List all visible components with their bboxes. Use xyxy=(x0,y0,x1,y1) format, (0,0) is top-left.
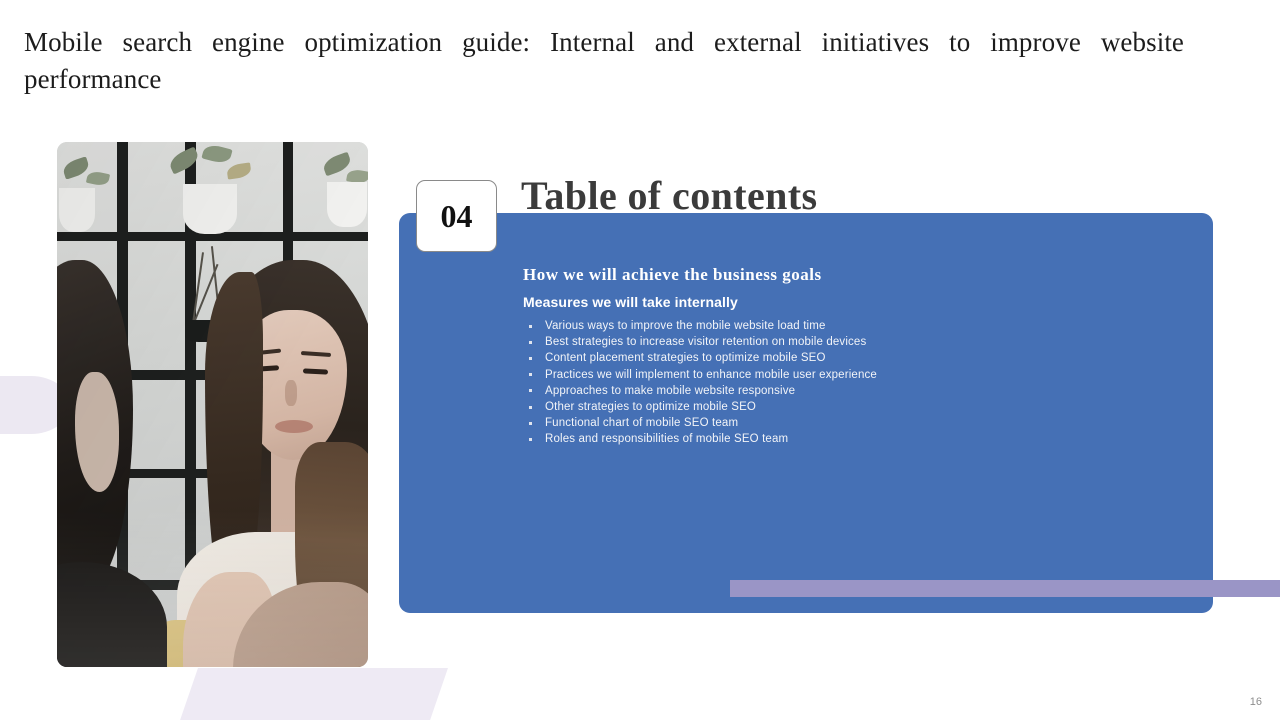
list-item[interactable]: Content placement strategies to optimize… xyxy=(523,350,1189,366)
accent-bar xyxy=(730,580,1280,597)
section-title: How we will achieve the business goals xyxy=(523,265,1189,285)
list-item[interactable]: Approaches to make mobile website respon… xyxy=(523,383,1189,399)
panel-content: How we will achieve the business goals M… xyxy=(523,265,1189,448)
photo-scene xyxy=(57,142,368,667)
decorative-lavender-bottom-shape xyxy=(180,668,448,720)
list-item[interactable]: Functional chart of mobile SEO team xyxy=(523,415,1189,431)
list-item[interactable]: Other strategies to optimize mobile SEO xyxy=(523,399,1189,415)
section-subtitle: Measures we will take internally xyxy=(523,294,1189,310)
table-of-contents-panel: How we will achieve the business goals M… xyxy=(399,213,1213,613)
table-of-contents-heading: Table of contents xyxy=(521,172,817,219)
section-number-label: 04 xyxy=(441,198,473,235)
list-item[interactable]: Roles and responsibilities of mobile SEO… xyxy=(523,431,1189,447)
section-number-badge: 04 xyxy=(416,180,497,252)
office-meeting-photo xyxy=(57,142,368,667)
page-title: Mobile search engine optimization guide:… xyxy=(24,24,1184,99)
list-item[interactable]: Best strategies to increase visitor rete… xyxy=(523,334,1189,350)
photo-tone-overlay xyxy=(57,142,368,667)
page-number: 16 xyxy=(1250,696,1262,708)
list-item[interactable]: Practices we will implement to enhance m… xyxy=(523,367,1189,383)
list-item[interactable]: Various ways to improve the mobile websi… xyxy=(523,318,1189,334)
table-of-contents-list: Various ways to improve the mobile websi… xyxy=(523,318,1189,448)
